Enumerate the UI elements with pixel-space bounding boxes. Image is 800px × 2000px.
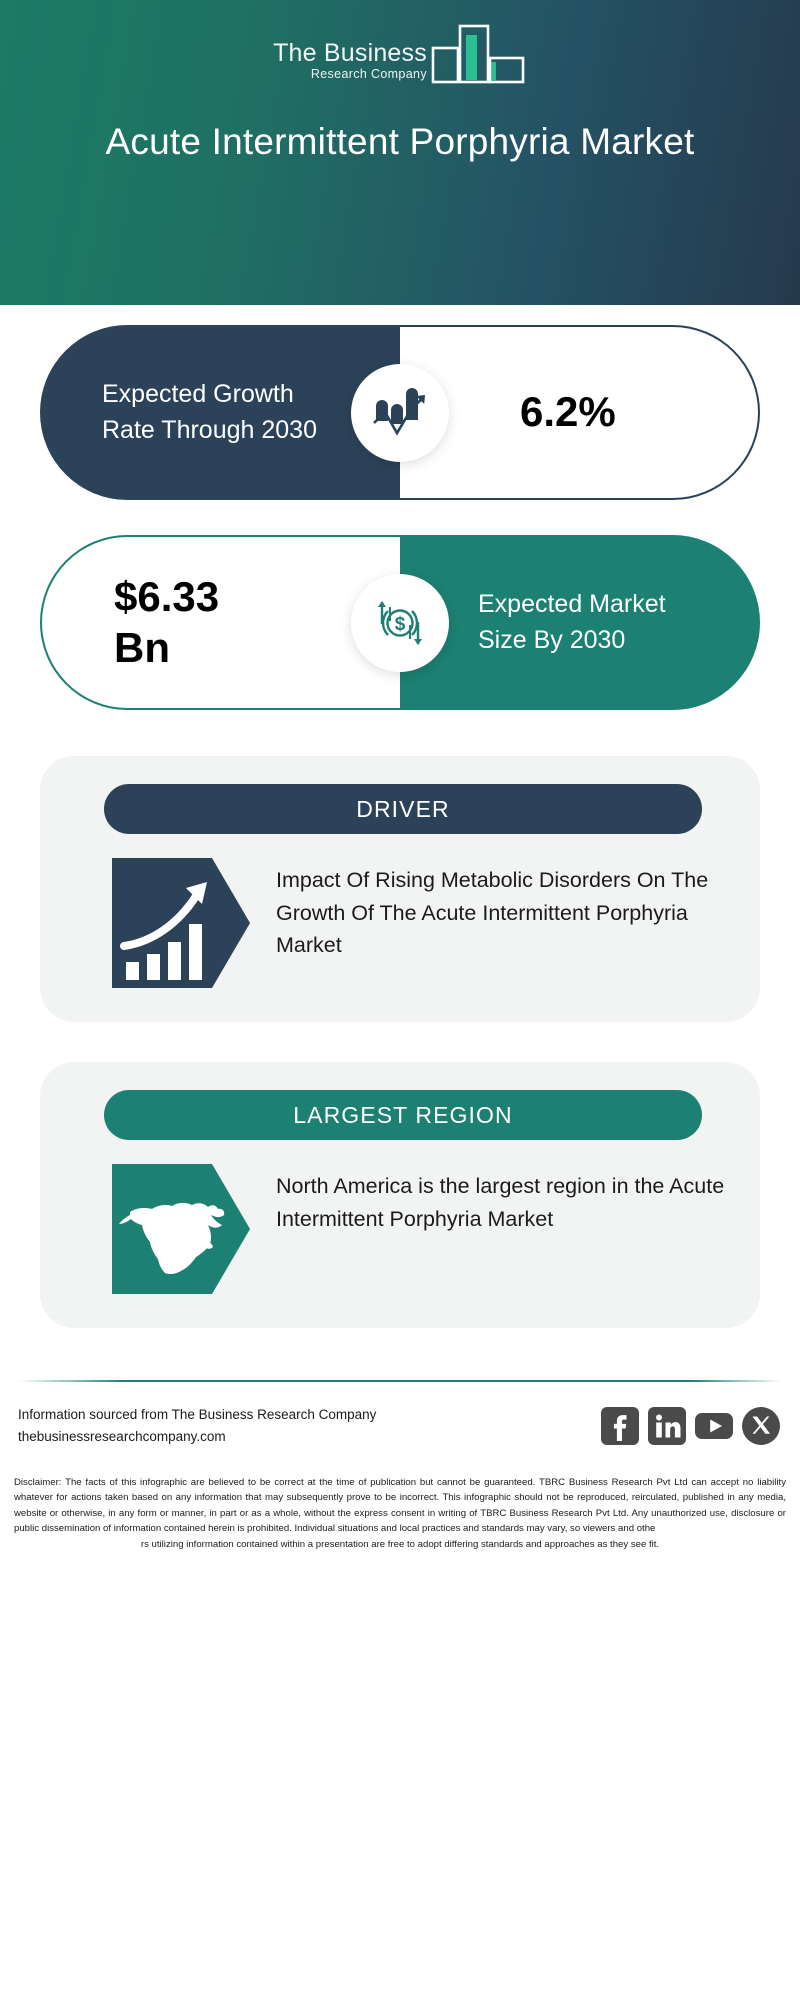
dollar-cycle-icon: $: [371, 594, 429, 652]
footer-source: Information sourced from The Business Re…: [18, 1404, 376, 1449]
stat-market-size-label-half: Expected Market Size By 2030: [400, 535, 760, 710]
panel-largest-region: LARGEST REGION North America is the larg…: [40, 1062, 760, 1328]
bar-chart-growth-icon: [372, 388, 428, 438]
growth-chart-arrow-icon: [112, 858, 250, 988]
disclaimer-main: Disclaimer: The facts of this infographi…: [14, 1477, 786, 1535]
panel-driver: DRIVER Impact Of Rising Metabolic Disord…: [40, 756, 760, 1022]
footer: Information sourced from The Business Re…: [0, 1380, 800, 1552]
facebook-icon[interactable]: [601, 1407, 639, 1445]
stat-market-size-value-line2: Bn: [114, 624, 170, 671]
stat-market-size-value: $6.33 Bn: [42, 572, 329, 673]
header-banner: The Business Research Company Acute Inte…: [0, 0, 800, 305]
social-links: [601, 1407, 780, 1445]
stat-growth-rate: Expected Growth Rate Through 2030 6.2%: [40, 325, 760, 500]
stat-growth-rate-label-half: Expected Growth Rate Through 2030: [40, 325, 400, 500]
stat-growth-rate-value-half: 6.2%: [400, 325, 760, 500]
footer-source-line2[interactable]: thebusinessresearchcompany.com: [18, 1426, 376, 1448]
panel-largest-region-body: North America is the largest region in t…: [74, 1164, 726, 1294]
brand-logo-text: The Business Research Company: [273, 41, 427, 85]
brand-logo-line2: Research Company: [273, 68, 427, 81]
svg-text:$: $: [395, 614, 406, 635]
stat-market-size-value-half: $6.33 Bn: [40, 535, 400, 710]
panel-largest-region-tag: LARGEST REGION: [104, 1090, 702, 1140]
linkedin-icon[interactable]: [648, 1407, 686, 1445]
north-america-map-icon: [112, 1164, 250, 1294]
x-twitter-icon[interactable]: [742, 1407, 780, 1445]
brand-logo: The Business Research Company: [0, 22, 800, 84]
stat-market-size: $6.33 Bn Expected Market Size By 2030 $: [40, 535, 760, 710]
footer-source-line1: Information sourced from The Business Re…: [18, 1404, 376, 1426]
page-title: Acute Intermittent Porphyria Market: [48, 118, 752, 165]
disclaimer-last-line: rs utilizing information contained withi…: [14, 1537, 786, 1553]
stat-market-size-badge: $: [351, 574, 449, 672]
panel-driver-body: Impact Of Rising Metabolic Disorders On …: [74, 858, 726, 988]
stat-growth-rate-badge: [351, 364, 449, 462]
disclaimer: Disclaimer: The facts of this infographi…: [14, 1475, 786, 1553]
panel-driver-tag: DRIVER: [104, 784, 702, 834]
panel-driver-text: Impact Of Rising Metabolic Disorders On …: [276, 858, 726, 962]
bar-chart-logo-icon: [431, 22, 527, 84]
brand-logo-line1: The Business: [273, 41, 427, 66]
panel-largest-region-text: North America is the largest region in t…: [276, 1164, 726, 1235]
footer-row: Information sourced from The Business Re…: [0, 1382, 800, 1449]
youtube-icon[interactable]: [695, 1407, 733, 1445]
stat-market-size-label: Expected Market Size By 2030: [400, 587, 760, 658]
stat-market-size-value-line1: $6.33: [114, 573, 219, 620]
stat-growth-rate-label: Expected Growth Rate Through 2030: [40, 377, 400, 448]
